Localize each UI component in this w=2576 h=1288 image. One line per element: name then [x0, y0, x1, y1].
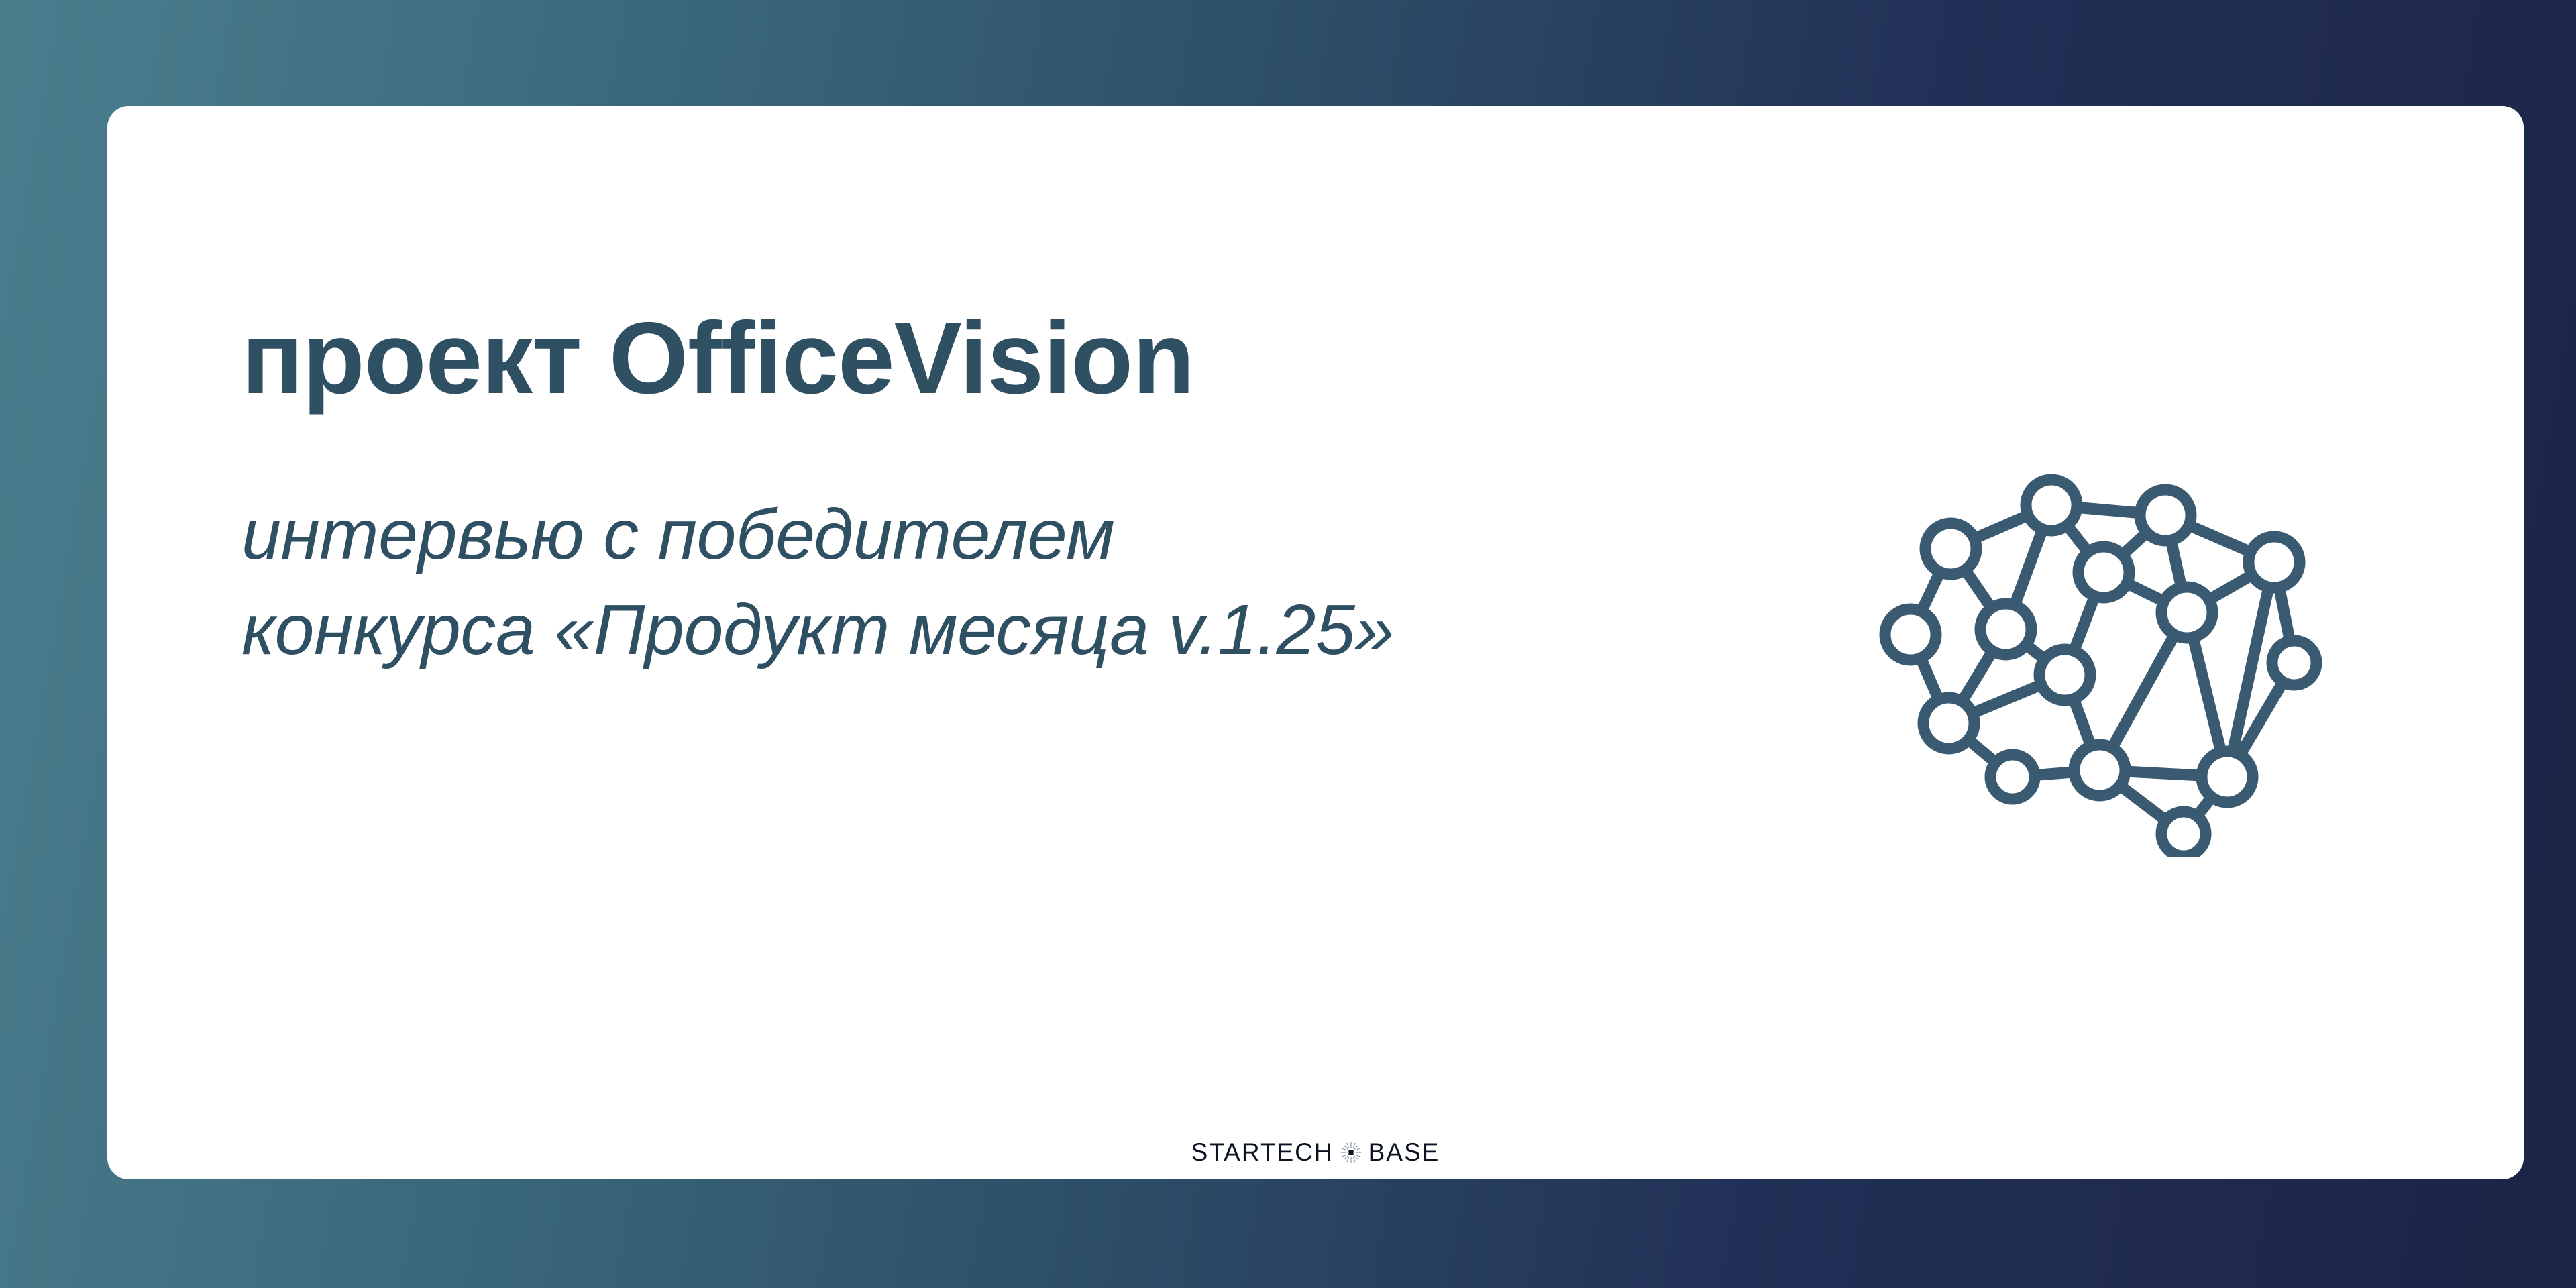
- footer-logo-base: BASE: [1368, 1140, 1440, 1165]
- page-title: проект OfficeVision: [241, 307, 1717, 409]
- content-card: проект OfficeVision интервью с победител…: [107, 106, 2524, 1179]
- hero-text-block: проект OfficeVision интервью с победител…: [241, 307, 1717, 678]
- page-title-prefix: проект: [241, 301, 609, 415]
- starburst-icon: [1340, 1141, 1362, 1164]
- page-subtitle-line-2: конкурса «Продукт месяца v.1.25»: [241, 582, 1717, 678]
- page-subtitle-line-1: интервью с победителем: [241, 487, 1717, 582]
- footer-logo-startech: STARTECH: [1191, 1140, 1334, 1165]
- brain-network-icon: [1784, 361, 2388, 857]
- page-subtitle: интервью с победителем конкурса «Продукт…: [241, 409, 1717, 678]
- footer-logo: STARTECH: [107, 1140, 2524, 1165]
- page-title-brand: OfficeVision: [609, 301, 1194, 415]
